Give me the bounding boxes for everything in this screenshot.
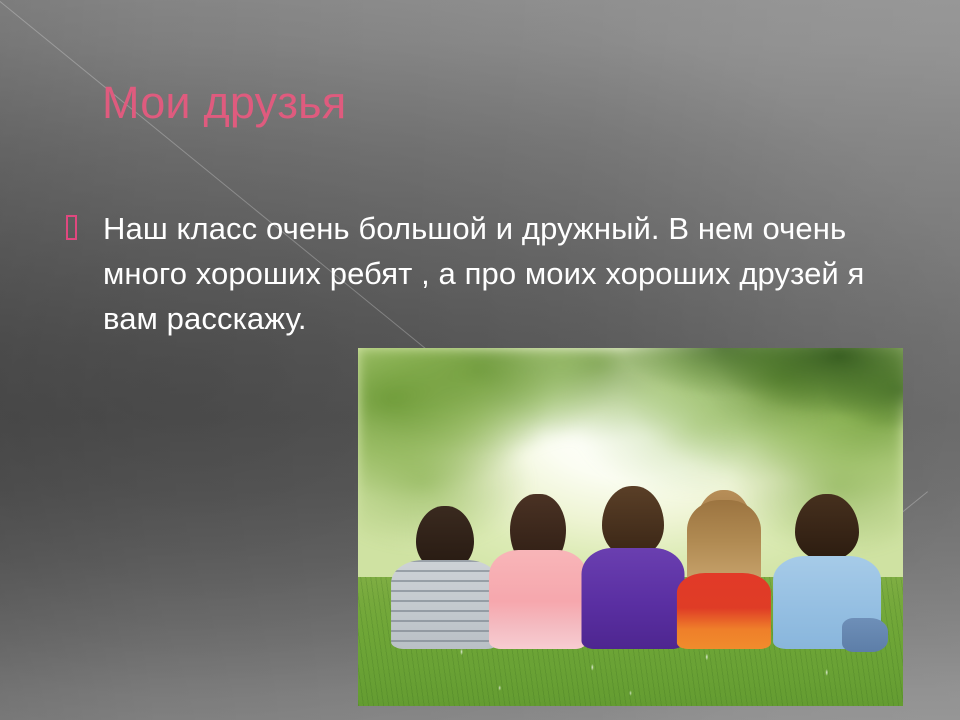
- photo-overhanging-branch: [620, 348, 903, 448]
- slide-body-content: Наш класс очень большой и дружный. В нем…: [62, 206, 907, 341]
- arm-4: [392, 488, 506, 516]
- children-photo: [358, 348, 903, 706]
- bullet-item-text: Наш класс очень большой и дружный. В нем…: [103, 206, 907, 341]
- slide-title: Мои друзья: [102, 76, 882, 130]
- photo-children-group: [391, 455, 882, 648]
- child-3-torso: [582, 548, 685, 649]
- arm-2: [392, 489, 502, 514]
- arm-5: [392, 491, 498, 513]
- photo-canvas: [358, 348, 903, 706]
- child-4-torso: [677, 573, 771, 649]
- hollow-box-bullet-icon: [66, 215, 77, 240]
- presentation-slide: Мои друзья Наш класс очень большой и дру…: [0, 0, 960, 720]
- bullet-list-item: Наш класс очень большой и дружный. В нем…: [62, 206, 907, 341]
- child-5-jeans: [842, 618, 887, 652]
- child-2-torso: [489, 550, 587, 649]
- child-1-torso: [391, 560, 499, 649]
- arm-1: [393, 485, 506, 519]
- children-linked-arms: [391, 502, 882, 560]
